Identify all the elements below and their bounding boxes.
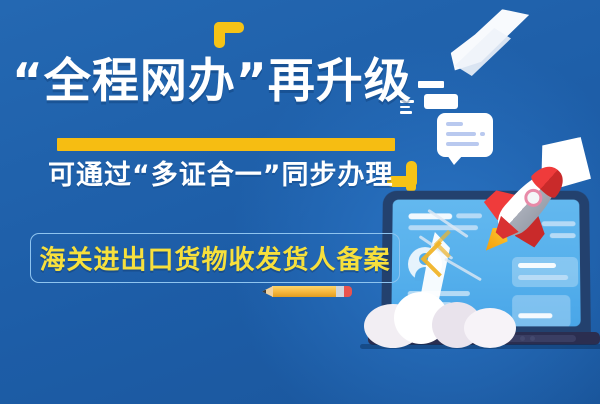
headline-underline-bar bbox=[57, 138, 395, 151]
headline-dash-icon bbox=[418, 81, 444, 88]
pencil-icon bbox=[262, 286, 352, 297]
promo-banner: “全程网办”再升级 可通过“多证合一”同步办理 海关进出口货物收发货人备案 bbox=[0, 0, 600, 404]
headline-text: “全程网办”再升级 bbox=[12, 54, 412, 109]
subline: 可通过“多证合一”同步办理 bbox=[48, 160, 394, 192]
service-name-badge: 海关进出口货物收发货人备案 bbox=[30, 233, 400, 283]
speech-bubble-icon bbox=[437, 113, 493, 157]
corner-bracket-icon-top bbox=[214, 22, 244, 48]
service-name-text: 海关进出口货物收发货人备案 bbox=[31, 240, 399, 277]
smoke-cloud-icon bbox=[364, 286, 524, 348]
headline: “全程网办”再升级 bbox=[12, 58, 444, 105]
